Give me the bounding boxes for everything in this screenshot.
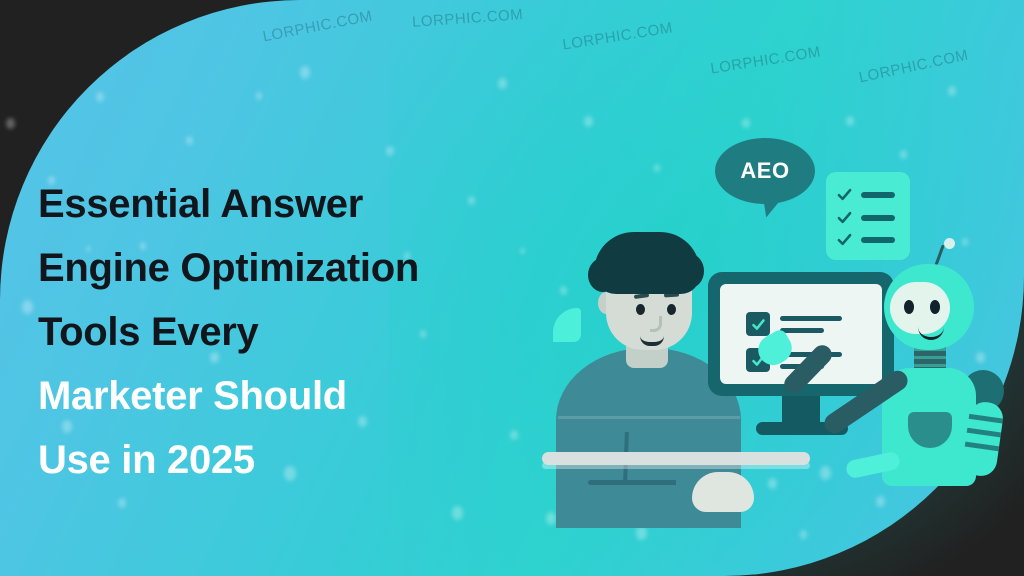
confetti-dot (6, 118, 15, 129)
checklist-card-bar (861, 215, 895, 221)
robot-chest-panel (908, 412, 952, 448)
robot-head (884, 264, 974, 350)
person-eye (667, 304, 676, 315)
robot-mouth (918, 326, 944, 340)
hero-illustration: AEO (520, 110, 1024, 510)
headline-line-3: Tools Every (38, 300, 558, 364)
headline-line-1: Essential Answer (38, 172, 558, 236)
screen-text-lines (780, 316, 842, 333)
person-hair (594, 232, 700, 294)
person-eye (636, 304, 645, 315)
checkbox-checked-icon (746, 312, 770, 336)
screen-checklist-row (746, 312, 842, 336)
ai-robot-character (870, 242, 1024, 492)
person-hand (692, 472, 754, 512)
headline-line-2: Engine Optimization (38, 236, 558, 300)
check-icon (837, 210, 852, 225)
robot-eye (904, 300, 914, 314)
banner-image: LORPHIC.COMLORPHIC.COMLORPHIC.COMLORPHIC… (0, 0, 1024, 576)
keyboard (542, 452, 810, 465)
speech-bubble-label: AEO (740, 158, 789, 184)
robot-eye (930, 300, 940, 314)
check-icon (837, 232, 852, 247)
headline-line-5: Use in 2025 (38, 428, 558, 492)
robot-antenna-tip (944, 238, 955, 249)
page-title: Essential Answer Engine Optimization Too… (38, 172, 558, 492)
checklist-card-row (837, 210, 895, 225)
headline-line-4: Marketer Should (38, 364, 558, 428)
checklist-card-bar (861, 192, 895, 198)
computer-monitor (708, 272, 894, 442)
checklist-card-row (837, 187, 895, 202)
check-icon (837, 187, 852, 202)
speech-bubble: AEO (715, 138, 815, 204)
